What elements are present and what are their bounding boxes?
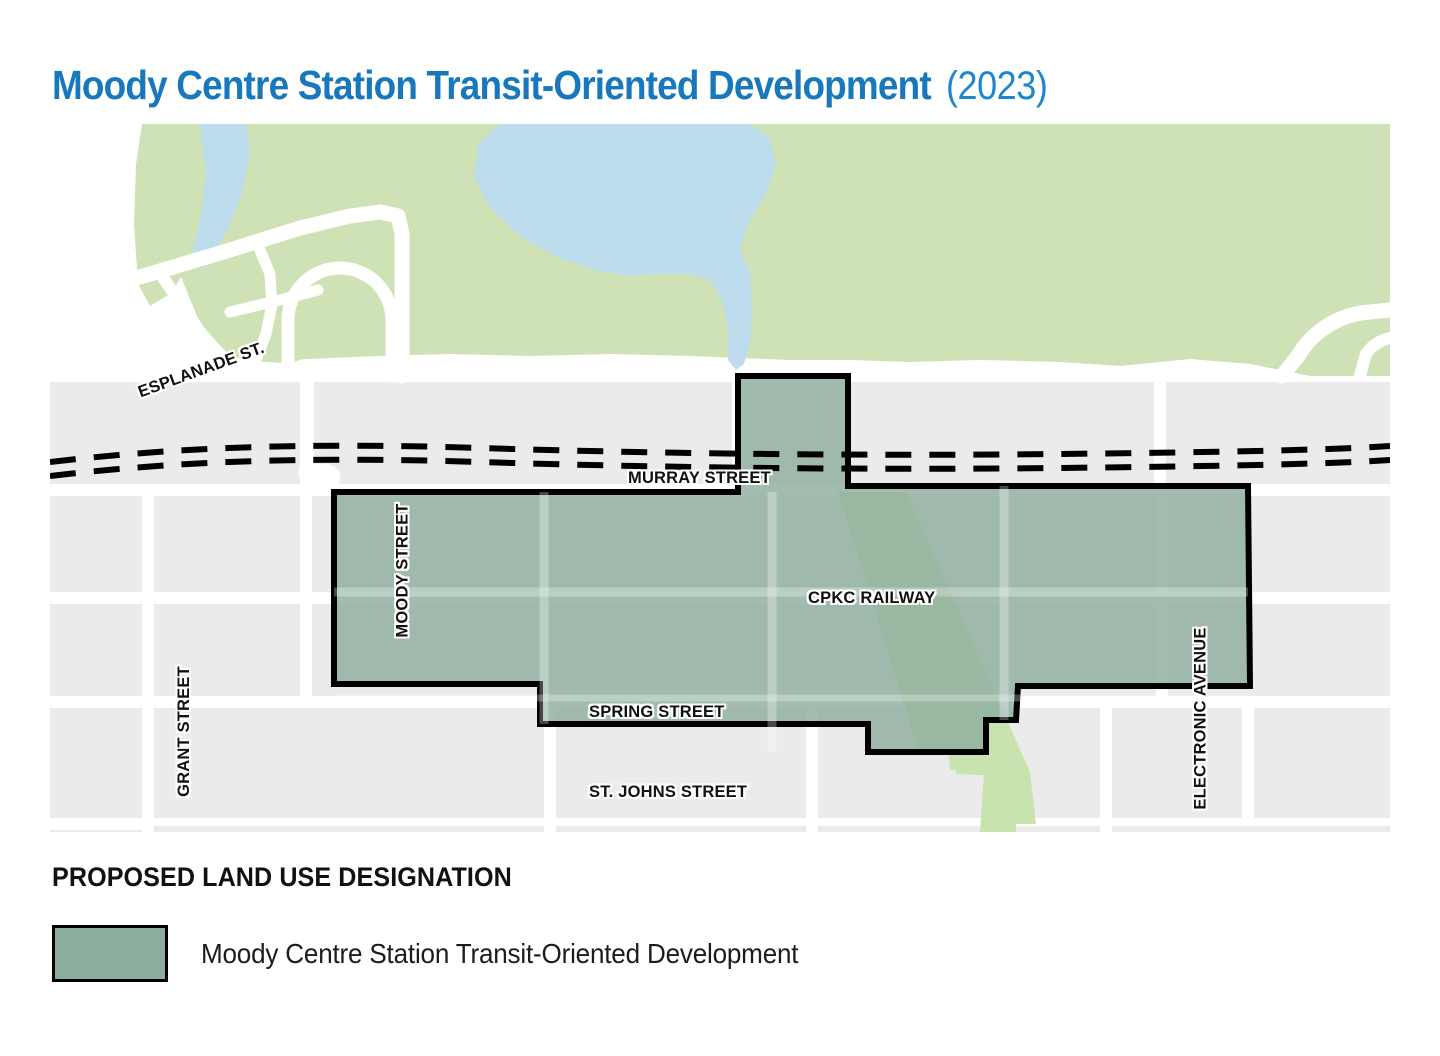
street-label-st-johns: ST. JOHNS STREET [589,783,747,802]
street-label-moody: MOODY STREET [394,503,413,637]
legend-item: Moody Centre Station Transit-Oriented De… [52,925,1252,982]
street-label-murray: MURRAY STREET [628,469,771,488]
legend: PROPOSED LAND USE DESIGNATION Moody Cent… [52,862,1252,982]
legend-heading: PROPOSED LAND USE DESIGNATION [52,862,1168,893]
page-title-year: (2023) [946,64,1047,109]
street-label-spring: SPRING STREET [589,703,725,722]
legend-label-designation: Moody Centre Station Transit-Oriented De… [201,938,798,970]
page-title-main: Moody Centre Station Transit-Oriented De… [52,62,931,109]
street-label-cpkc-railway: CPKC RAILWAY [808,589,935,608]
street-label-grant: GRANT STREET [175,666,194,797]
page-title: Moody Centre Station Transit-Oriented De… [52,62,1392,114]
street-label-electronic-avenue: ELECTRONIC AVENUE [1192,627,1211,809]
legend-swatch-designation [52,925,168,982]
map-canvas[interactable]: ESPLANADE ST. MOODY STREET GRANT STREET … [50,124,1390,832]
